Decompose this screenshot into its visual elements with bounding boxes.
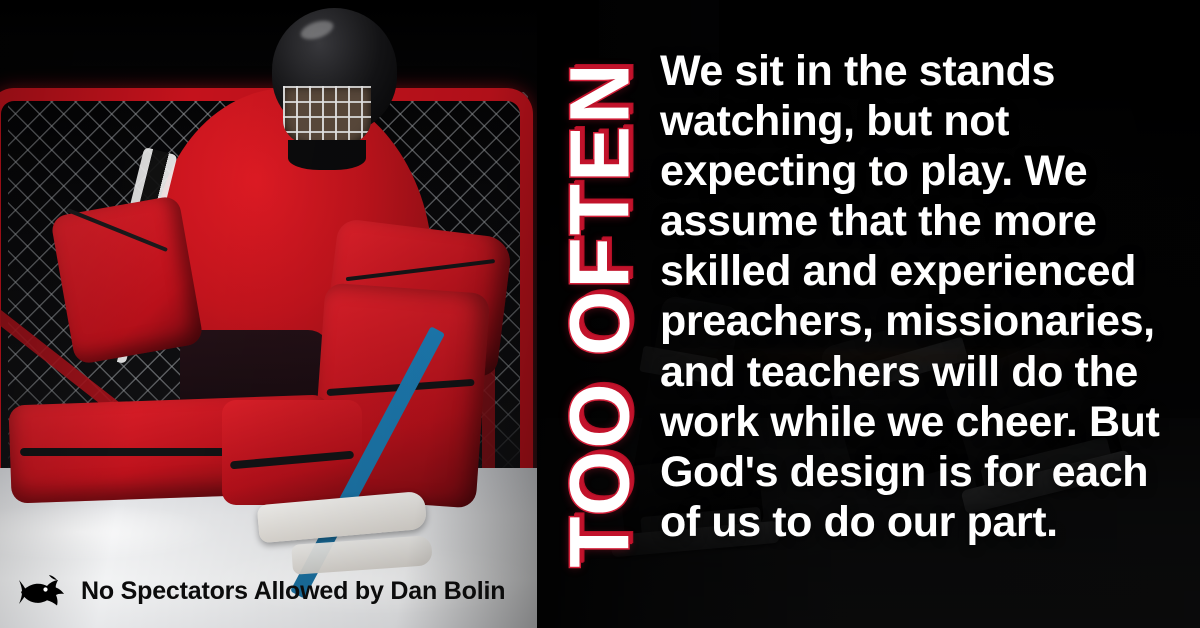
goalie-mask-cage [283, 86, 371, 148]
fish-logo-icon [18, 572, 70, 610]
quote-text: We sit in the stands watching, but not e… [660, 46, 1188, 547]
goalie-blocker-glove [50, 195, 204, 365]
goalie-leg-pad-mid [222, 400, 362, 505]
caption-bar: No Spectators Allowed by Dan Bolin [18, 572, 505, 610]
hockey-goalie-photo [0, 0, 537, 628]
poster-canvas: TOO OFTEN We sit in the stands watching,… [0, 0, 1200, 628]
helmet-chin [288, 140, 366, 170]
caption-label: No Spectators Allowed by Dan Bolin [81, 577, 505, 606]
cage-bars [283, 86, 371, 148]
